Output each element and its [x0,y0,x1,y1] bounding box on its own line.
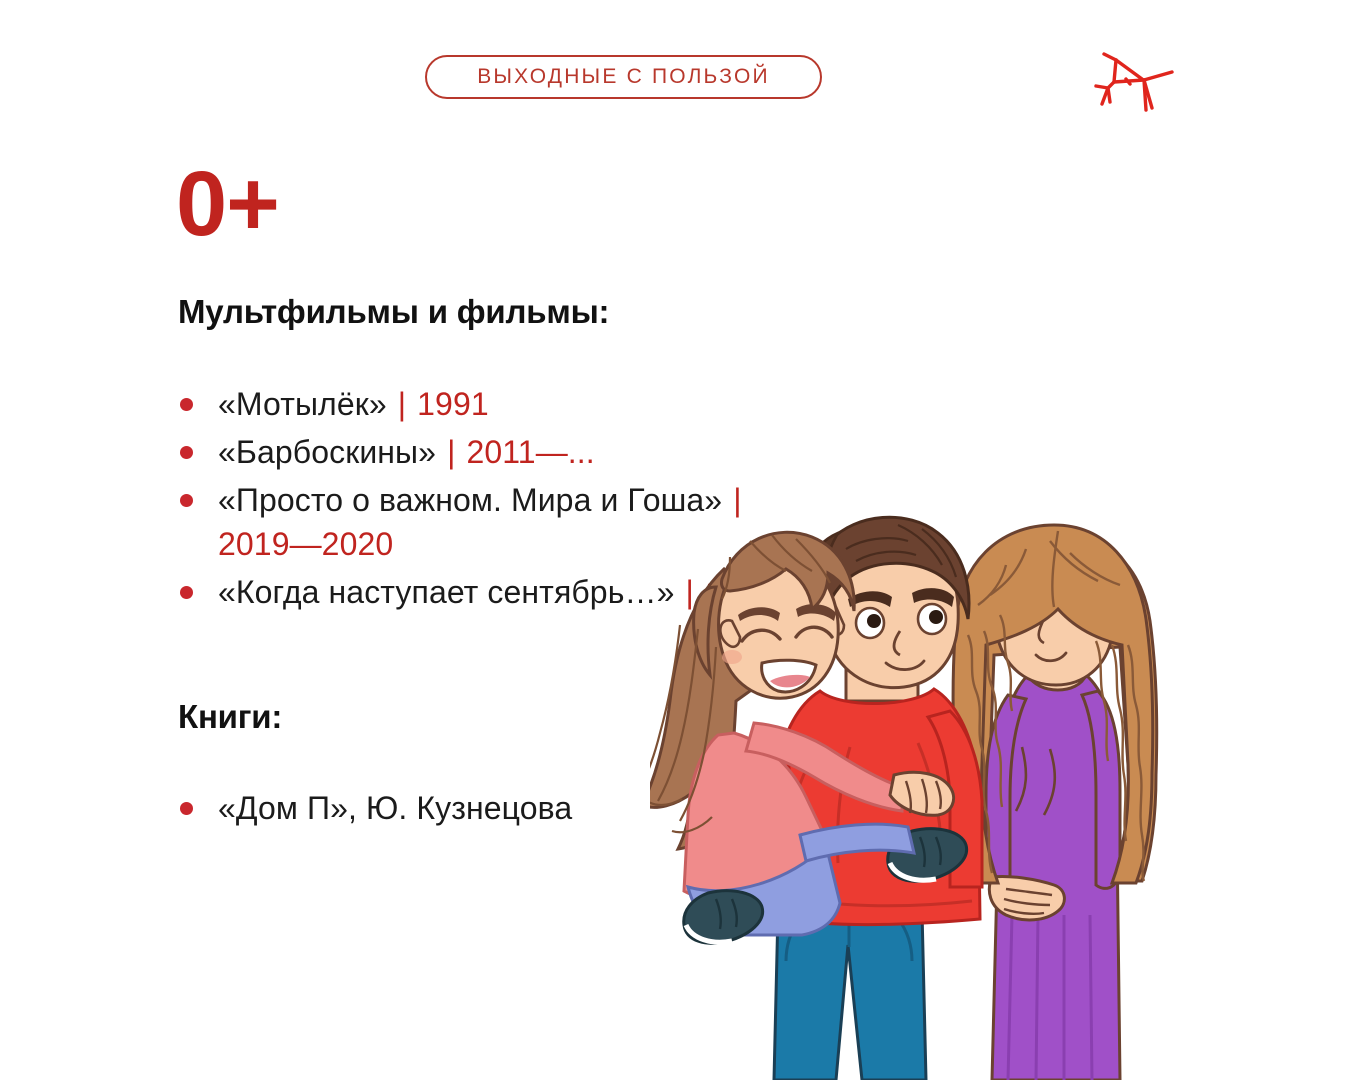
father-eye-right [918,604,946,634]
header-badge-label: ВЫХОДНЫЕ С ПОЛЬЗОЙ [477,65,770,89]
list-item-year: 2011—... [466,434,594,470]
list-item-year: 1991 [417,386,489,422]
list-item: «Барбоскины» | 2011—... [176,430,796,474]
list-item-year: 2019—2020 [218,526,393,562]
section-heading-books: Книги: [178,698,282,736]
family-illustration-svg [650,495,1350,1080]
mother-figure [953,525,1157,1080]
list-item-title: «Дом П», Ю. Кузнецова [218,790,572,826]
father-eye-left [856,608,884,638]
list-item-separator: | [445,434,457,470]
section-heading-movies: Мультфильмы и фильмы: [178,293,609,331]
horse-line-art-logo [1086,42,1186,114]
header-badge: ВЫХОДНЫЕ С ПОЛЬЗОЙ [425,55,822,99]
family-illustration [650,495,1350,1080]
list-item-separator: | [396,386,408,422]
age-rating: 0+ [176,158,279,250]
girl-cheek-blush [722,650,742,664]
list-item-title: «Просто о важном. Мира и Гоша» [218,482,722,518]
poster-canvas: ВЫХОДНЫЕ С ПОЛЬЗОЙ 0+ Мультфильмы и филь… [0,0,1350,1080]
list-item-title: «Мотылёк» [218,386,387,422]
list-item-title: «Барбоскины» [218,434,436,470]
list-item: «Мотылёк» | 1991 [176,382,796,426]
list-item-title: «Когда наступает сентябрь…» [218,574,674,610]
horse-line-art-icon [1086,42,1186,114]
